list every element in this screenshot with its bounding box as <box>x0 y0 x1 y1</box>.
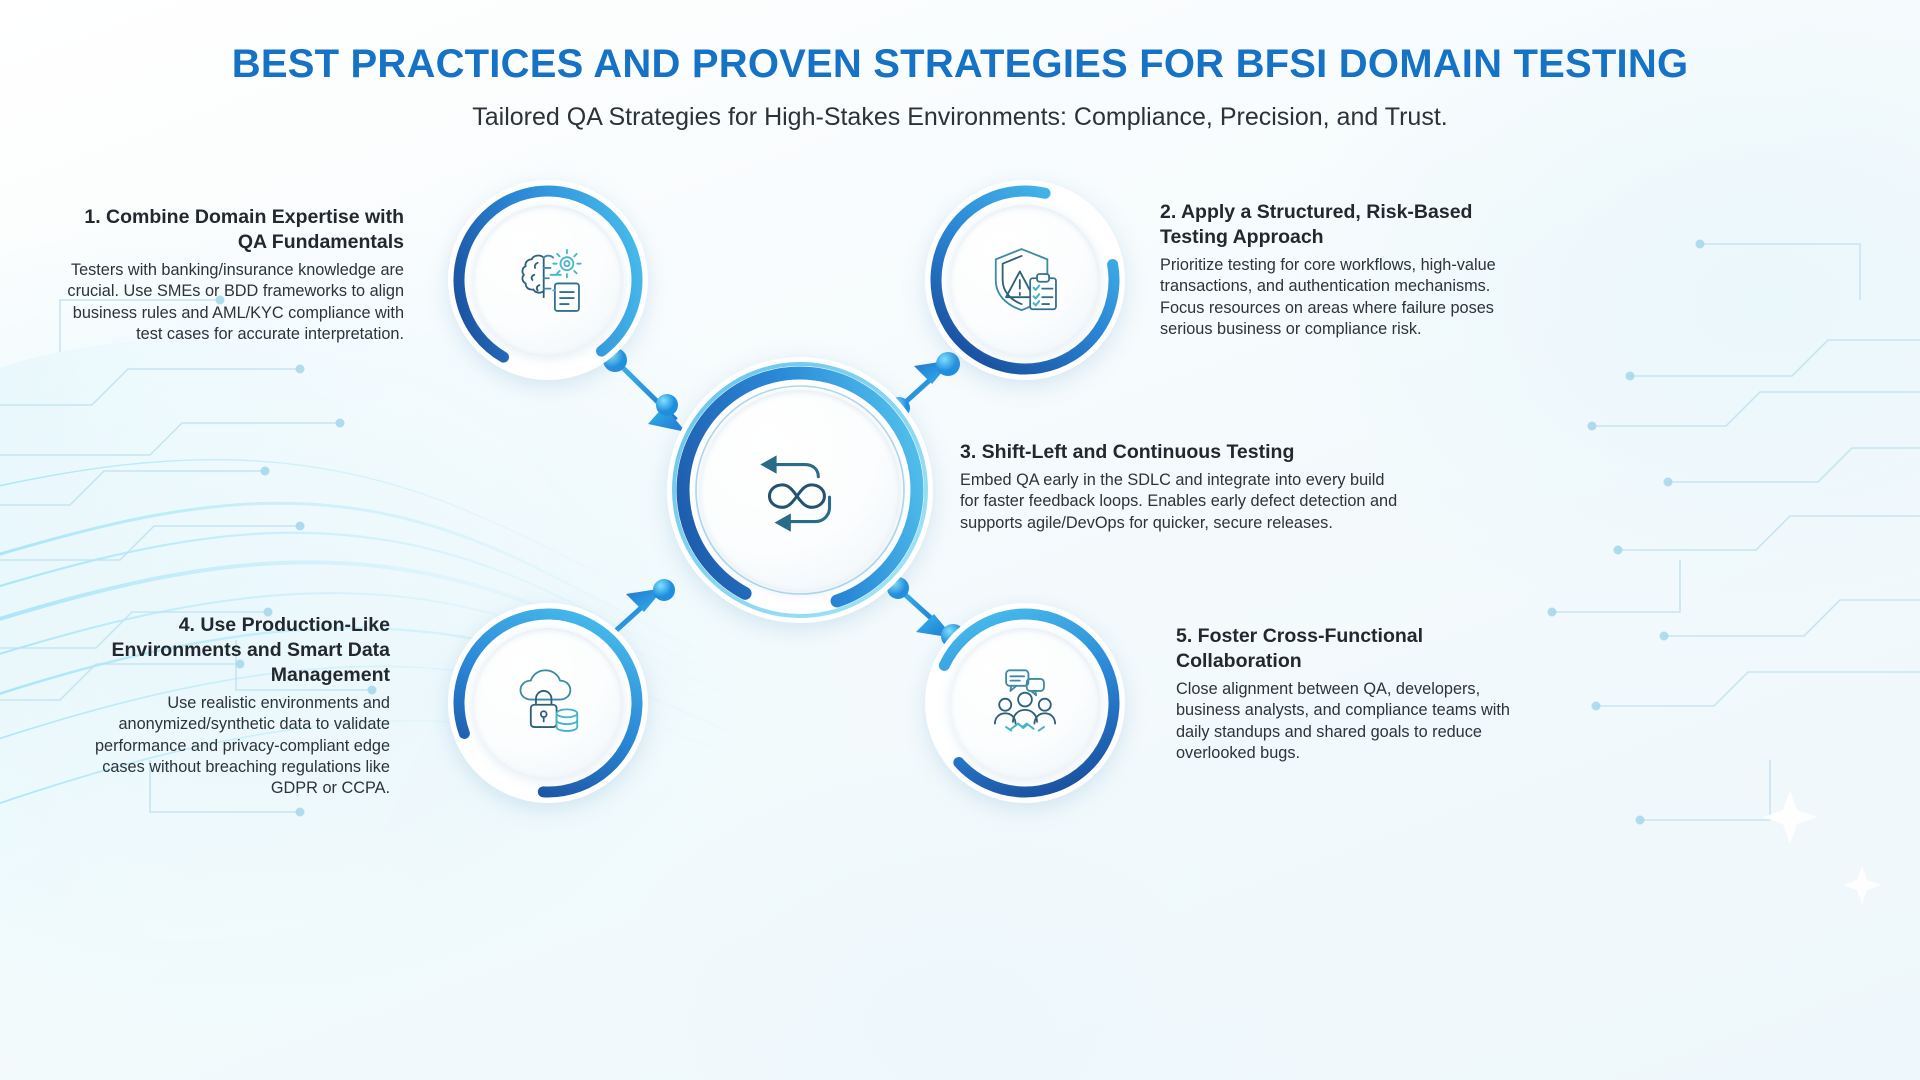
item-2-heading: 2. Apply a Structured, Risk-Based Testin… <box>1160 200 1526 250</box>
node-circle-2[interactable] <box>925 180 1125 380</box>
node-2-disc <box>950 205 1100 355</box>
shield-warning-checklist-icon <box>982 237 1068 323</box>
node-circle-center[interactable] <box>667 357 933 623</box>
item-4-heading: 4. Use Production-Like Environments and … <box>58 613 390 688</box>
node-circle-5[interactable] <box>925 603 1125 803</box>
item-block-4: 4. Use Production-Like Environments and … <box>58 613 390 800</box>
item-3-body: Embed QA early in the SDLC and integrate… <box>960 470 1404 534</box>
item-block-2: 2. Apply a Structured, Risk-Based Testin… <box>1160 200 1526 340</box>
node-circle-4[interactable] <box>448 603 648 803</box>
item-5-heading: 5. Foster Cross-Functional Collaboration <box>1176 624 1516 674</box>
item-block-3: 3. Shift-Left and Continuous Testing Emb… <box>960 440 1404 534</box>
center-disc <box>700 390 900 590</box>
node-1-disc <box>473 205 623 355</box>
brain-gear-document-icon <box>505 237 591 323</box>
people-handshake-chat-icon <box>982 660 1068 746</box>
node-5-disc <box>950 628 1100 778</box>
cloud-lock-database-icon <box>505 660 591 746</box>
item-2-body: Prioritize testing for core workflows, h… <box>1160 255 1526 340</box>
infinity-loop-arrows-icon <box>744 434 856 546</box>
diagram-stage <box>0 0 1920 1080</box>
item-4-body: Use realistic environments and anonymize… <box>58 693 390 800</box>
item-3-heading: 3. Shift-Left and Continuous Testing <box>960 440 1404 465</box>
node-circle-1[interactable] <box>448 180 648 380</box>
node-4-disc <box>473 628 623 778</box>
item-1-heading: 1. Combine Domain Expertise with QA Fund… <box>52 205 404 255</box>
item-block-5: 5. Foster Cross-Functional Collaboration… <box>1176 624 1516 764</box>
item-block-1: 1. Combine Domain Expertise with QA Fund… <box>52 205 404 345</box>
item-1-body: Testers with banking/insurance knowledge… <box>52 260 404 345</box>
item-5-body: Close alignment between QA, developers, … <box>1176 679 1516 764</box>
